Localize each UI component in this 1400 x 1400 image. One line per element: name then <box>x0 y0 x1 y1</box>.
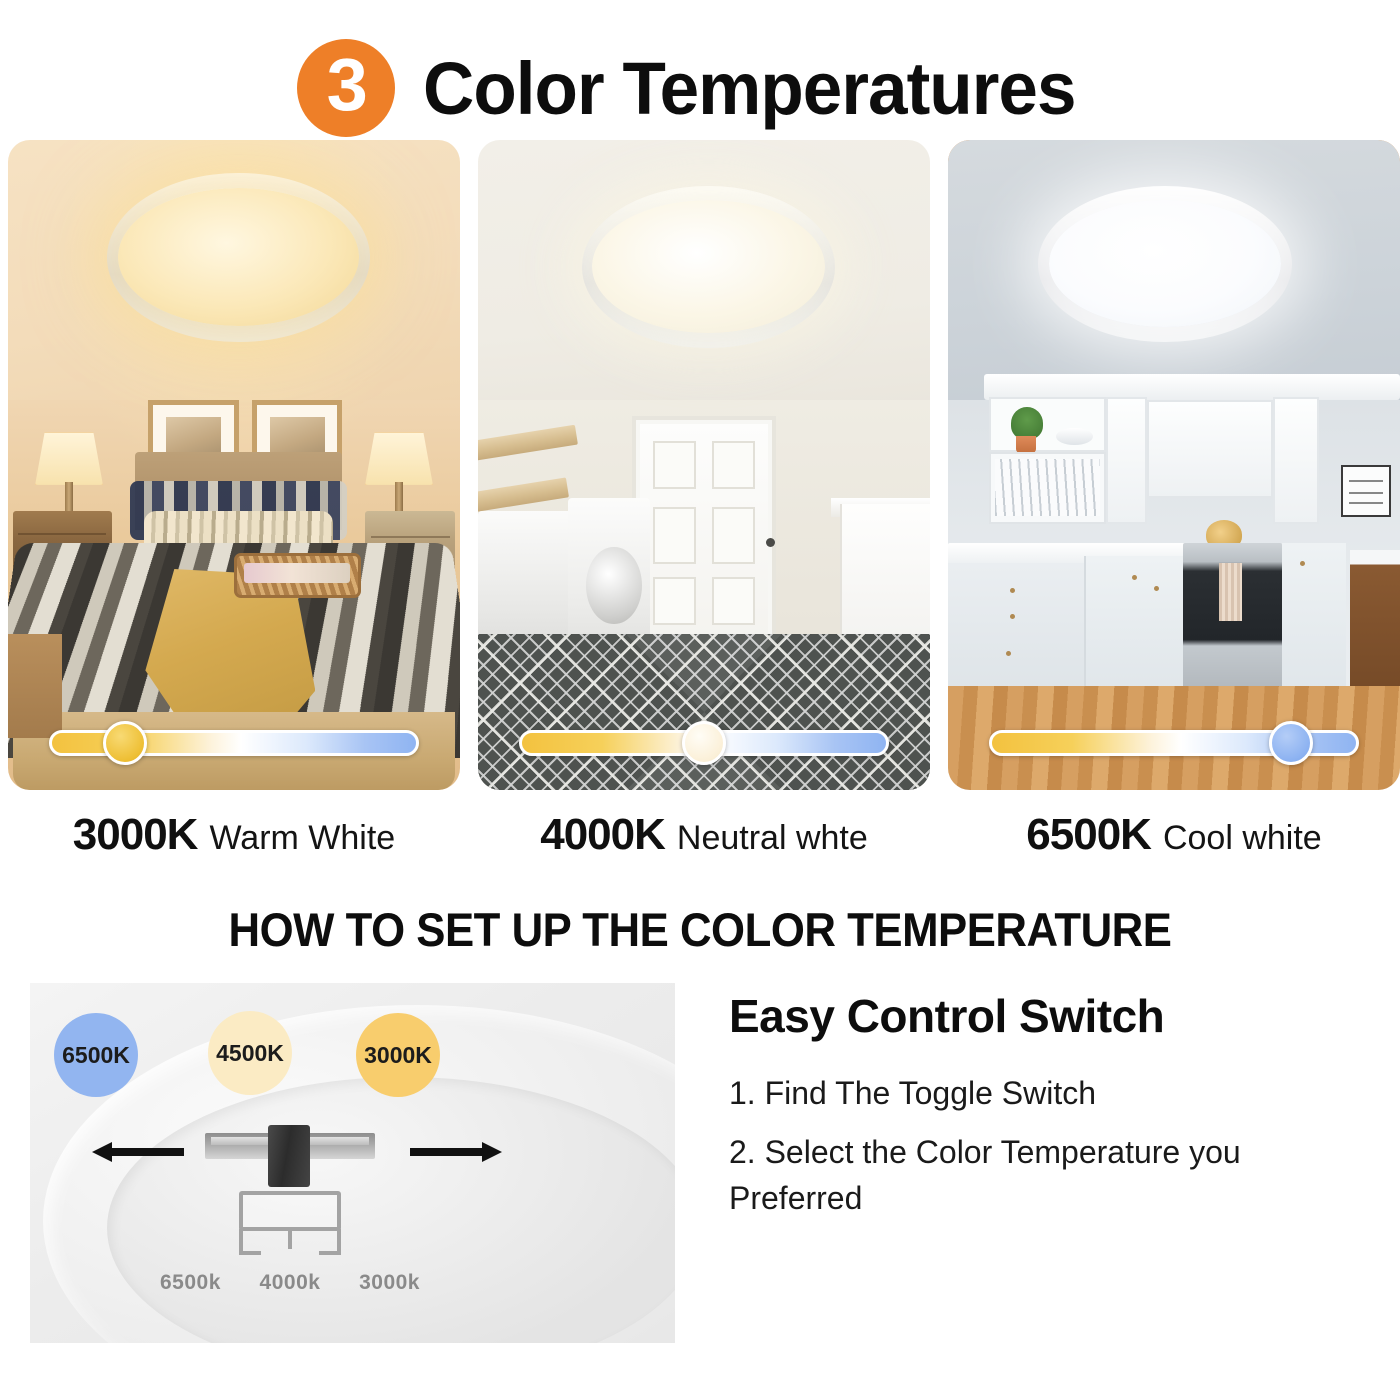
drawer-line <box>18 533 106 535</box>
kelvin-description: Neutral whte <box>677 819 868 858</box>
photo-card-bedroom <box>8 140 460 790</box>
kelvin-description: Cool white <box>1163 819 1322 858</box>
plate-slots <box>995 459 1099 516</box>
sign-text-line <box>1349 502 1384 504</box>
badge-6500k-label: 6500K <box>62 1042 130 1069</box>
fixture-lens <box>592 200 825 333</box>
tile-floor <box>478 634 930 790</box>
dryer-door <box>586 547 641 624</box>
door-panel <box>712 507 755 564</box>
door <box>636 420 772 648</box>
switch-temperature-labels: 6500k 4000k 3000k <box>160 1271 420 1295</box>
badge-6500k: 6500K <box>54 1013 138 1097</box>
cabinet-knob <box>1006 651 1011 656</box>
fixture-lens <box>1049 200 1282 328</box>
stacked-dishes <box>1056 428 1092 445</box>
slider-knob-icon[interactable] <box>1269 721 1313 765</box>
kelvin-value: 6500K <box>1026 810 1151 860</box>
kelvin-value: 4000K <box>540 810 665 860</box>
table-lamp-left <box>35 433 103 518</box>
open-shelf <box>989 397 1107 452</box>
photo-row <box>0 140 1400 790</box>
wood-floor <box>8 634 62 738</box>
cabinet-knob <box>1132 575 1137 580</box>
color-temp-slider-neutral[interactable] <box>519 730 890 756</box>
potted-plant <box>1011 407 1043 440</box>
basket-contents <box>244 563 350 584</box>
badge-3000k-label: 3000K <box>364 1042 432 1069</box>
photo-card-laundry-room <box>478 140 930 790</box>
slider-knob-icon[interactable] <box>682 721 726 765</box>
arrow-left-icon <box>90 1141 186 1163</box>
sign-text-line <box>1349 480 1384 482</box>
switch-pin-foot-left <box>239 1251 261 1255</box>
cabinet-knob <box>1010 588 1015 593</box>
slider-knob-icon[interactable] <box>103 721 147 765</box>
kitchen-towel <box>1219 563 1242 622</box>
lamp-shade <box>365 433 433 485</box>
temperature-label-6500k: 6500K Cool white <box>948 810 1400 886</box>
tile-grout <box>478 634 930 790</box>
instructions-panel: Easy Control Switch 1. Find The Toggle S… <box>675 983 1370 1357</box>
kelvin-description: Warm White <box>209 819 395 858</box>
door-panel <box>712 441 755 489</box>
ceiling-light-fixture <box>1038 186 1291 342</box>
upper-cabinet-left <box>1106 397 1147 524</box>
switch-pin-foot-right <box>319 1251 341 1255</box>
bedroom-scene <box>8 140 460 790</box>
plate-rack <box>989 452 1107 524</box>
door-knob <box>766 538 775 547</box>
upper-cabinet-right <box>1273 397 1318 524</box>
badge-4500k-label: 4500K <box>216 1040 284 1067</box>
page-title: Color Temperatures <box>423 46 1076 131</box>
color-temp-slider-cool[interactable] <box>989 730 1360 756</box>
temperature-label-3000k: 3000K Warm White <box>8 810 460 886</box>
range-hood <box>1147 400 1274 498</box>
sign-text-line <box>1349 492 1384 494</box>
section-title: HOW TO SET UP THE COLOR TEMPERATURE <box>49 886 1351 957</box>
switch-label-3000k: 3000k <box>359 1271 420 1295</box>
photo-card-kitchen <box>948 140 1400 790</box>
laundry-room-scene <box>478 140 930 790</box>
lamp-shade <box>35 433 103 485</box>
kelvin-value: 3000K <box>73 810 198 860</box>
cabinet-knob <box>1010 614 1015 619</box>
ceiling-light-fixture <box>107 173 369 342</box>
plant-pot <box>1016 436 1036 453</box>
instruction-step-1: 1. Find The Toggle Switch <box>729 1071 1369 1116</box>
instruction-step-2: 2. Select the Color Temperature you Pref… <box>729 1130 1369 1221</box>
door-panel <box>712 577 755 625</box>
cabinet-knob <box>1154 586 1159 591</box>
lower-cabinets-right <box>1282 543 1345 693</box>
toggle-switch-assembly[interactable] <box>205 1123 375 1293</box>
door-panel <box>653 577 696 625</box>
temperature-label-4000k: 4000K Neutral whte <box>478 810 930 886</box>
cabinet-knob <box>1300 561 1305 566</box>
door-panel <box>653 441 696 489</box>
temperature-labels-row: 3000K Warm White 4000K Neutral whte 6500… <box>0 790 1400 886</box>
lower-cabinets-center <box>1084 556 1183 693</box>
wall-sign <box>1341 465 1391 517</box>
switch-housing <box>239 1191 341 1231</box>
badge-4500k: 4500K <box>208 1011 292 1095</box>
kitchen-scene <box>948 140 1400 790</box>
switch-label-6500k: 6500k <box>160 1271 221 1295</box>
badge-3000k: 3000K <box>356 1013 440 1097</box>
badge-number: 3 <box>327 48 366 122</box>
page-header: 3 Color Temperatures <box>0 0 1400 140</box>
bottom-section: 6500K 4500K 3000K <box>0 957 1400 1357</box>
drawer-line <box>371 536 451 538</box>
fixture-lens <box>118 188 359 327</box>
door-panel <box>653 507 696 564</box>
switch-diagram: 6500K 4500K 3000K <box>30 983 675 1343</box>
table-lamp-right <box>365 433 433 518</box>
instructions-title: Easy Control Switch <box>729 989 1370 1043</box>
toggle-switch-knob[interactable] <box>268 1125 310 1187</box>
breakfast-basket <box>234 553 361 599</box>
step-number-badge: 3 <box>297 39 395 137</box>
switch-label-4000k: 4000k <box>260 1271 321 1295</box>
color-temp-slider-warm[interactable] <box>49 730 420 756</box>
switch-pin-center <box>288 1229 292 1249</box>
arrow-right-icon <box>408 1141 504 1163</box>
ceiling-light-fixture <box>582 186 835 349</box>
